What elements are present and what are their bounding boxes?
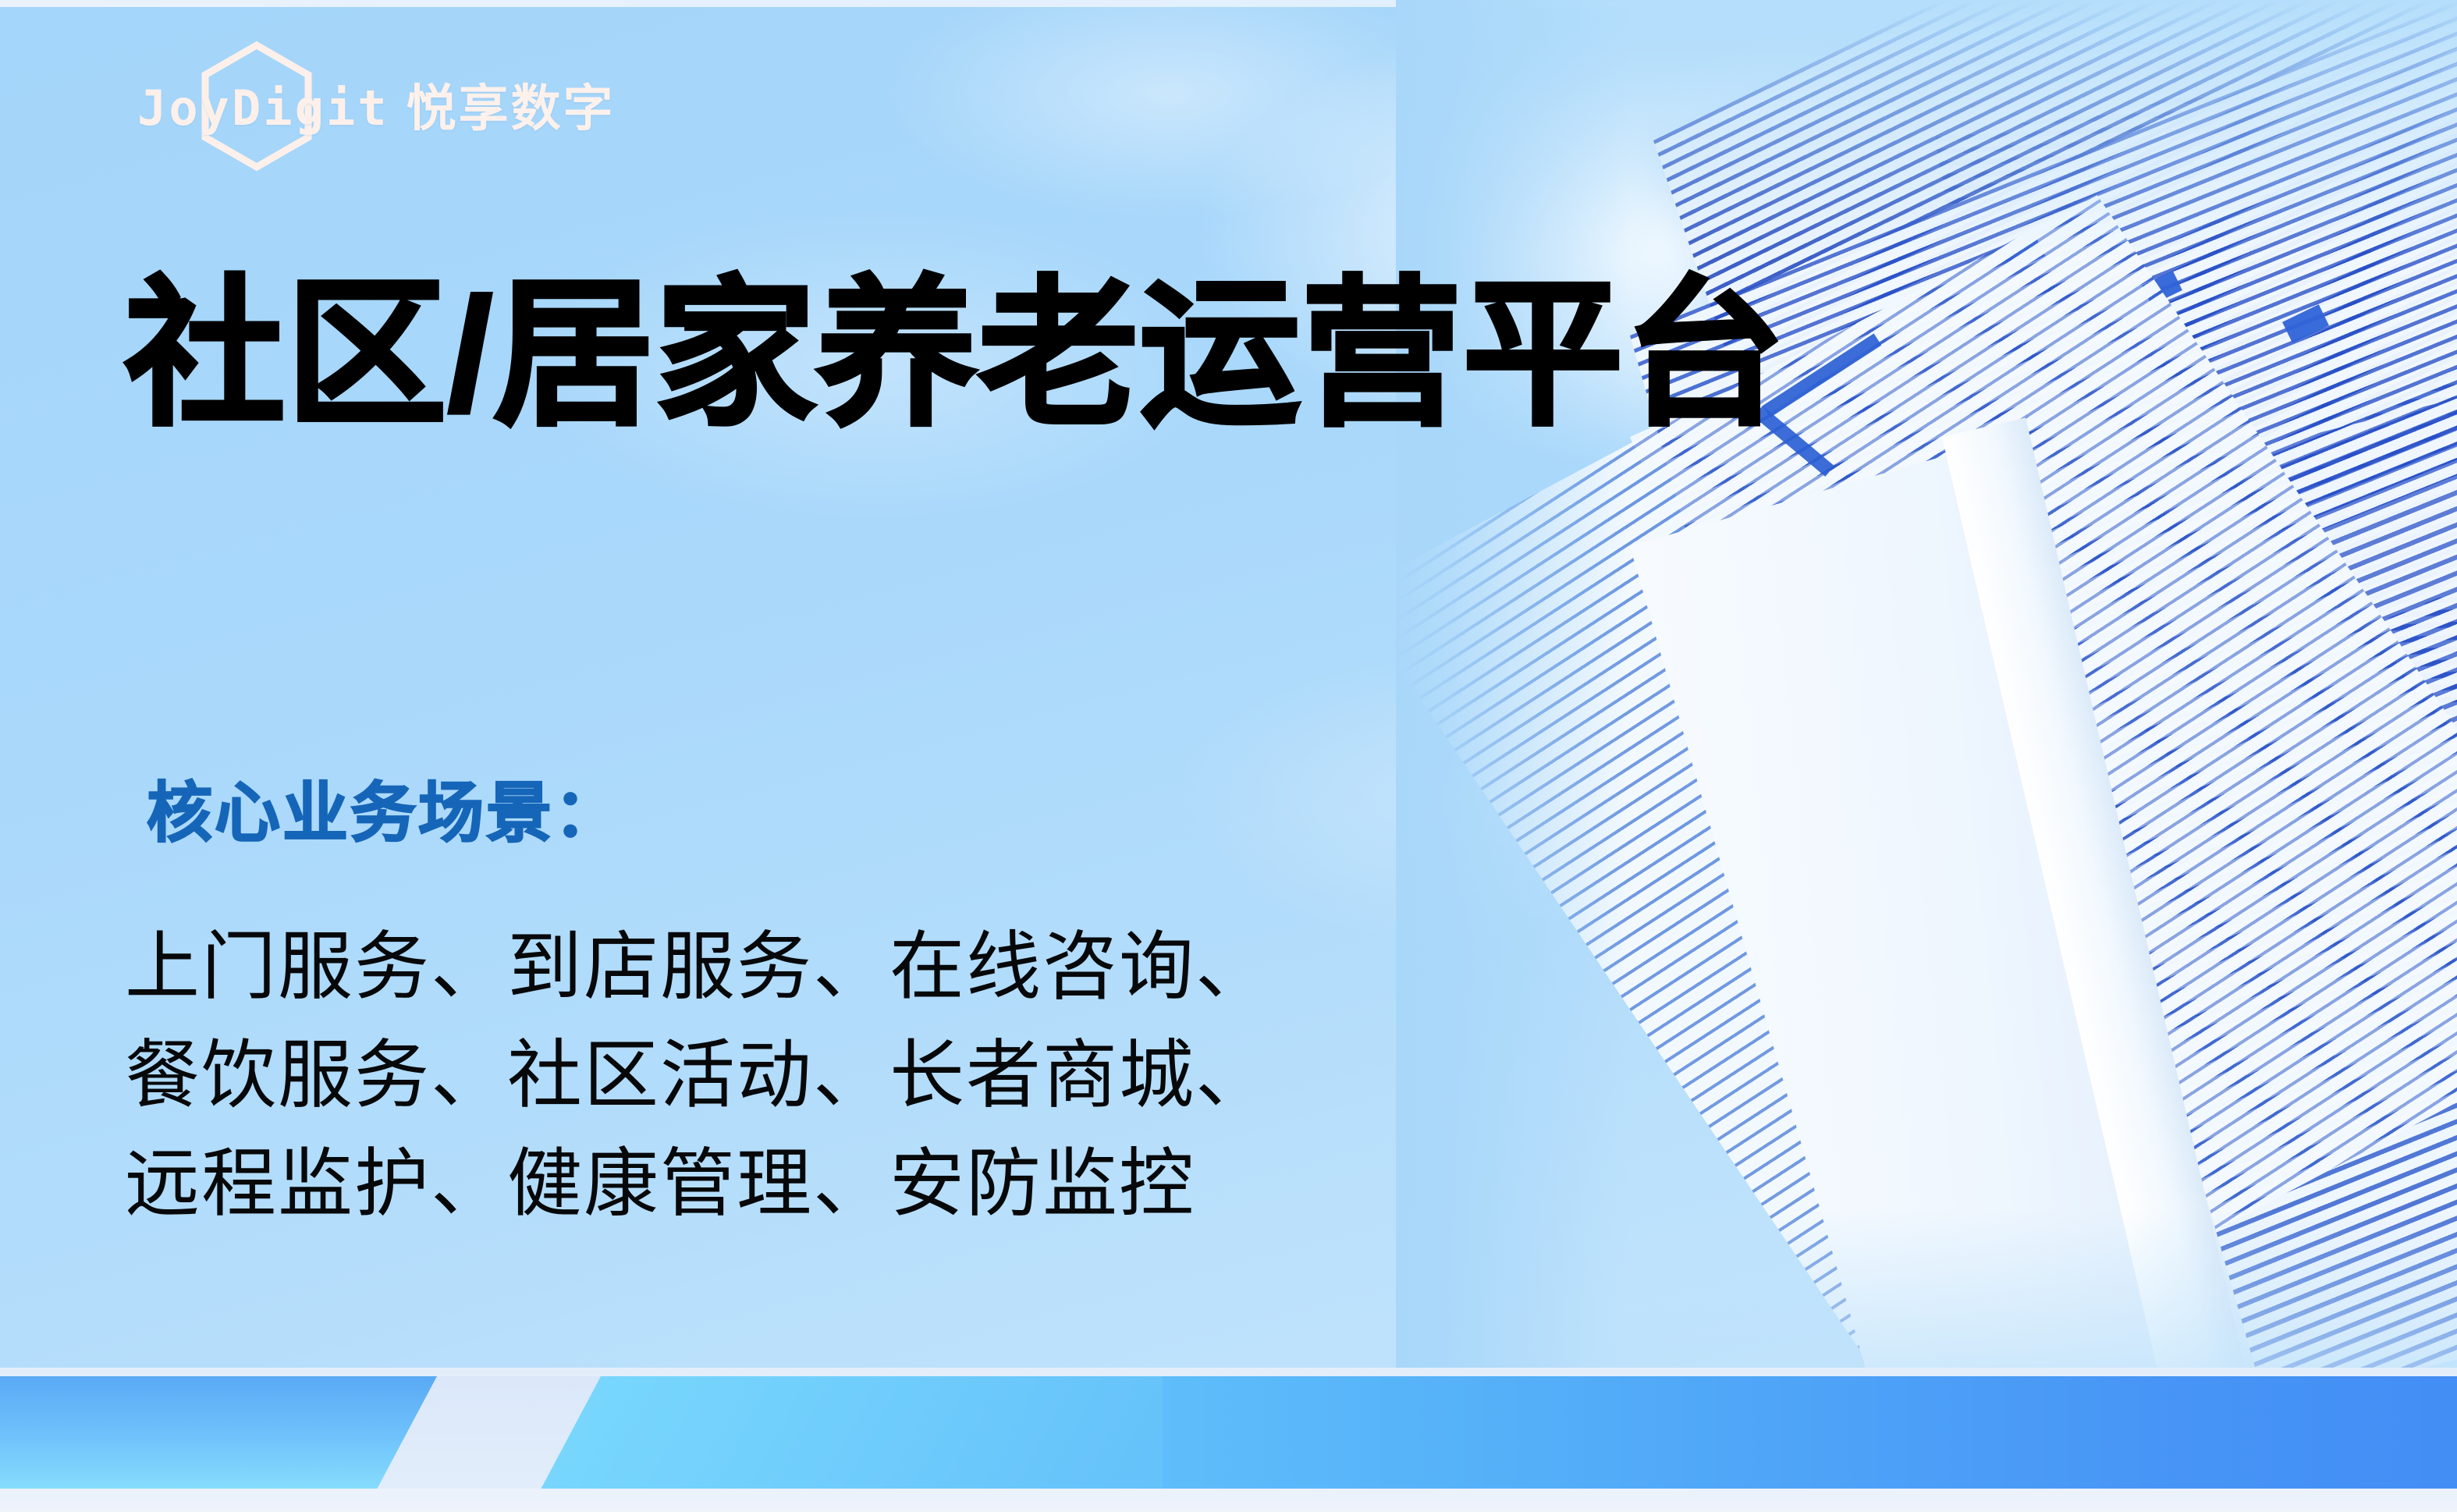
bottom-decorative-banner [0,1368,2457,1512]
scenario-line: 远程监护、健康管理、安防监控 [125,1136,1272,1233]
scenario-line: 上门服务、到店服务、在线咨询、 [125,919,1272,1017]
logo-chinese-name: 悦享数字 [407,83,616,133]
page-title: 社区/居家养老运营平台 [125,265,1786,445]
logo-wordmark: JoyDigit [137,84,389,133]
scenario-line: 餐饮服务、社区活动、长者商城、 [125,1028,1272,1125]
section-heading: 核心业务场景： [147,780,622,846]
banner-band-right-solid [1163,1376,2457,1489]
sky-background [0,0,2457,1512]
brand-logo[interactable]: JoyDigit 悦享数字 [137,75,616,142]
slide-root: JoyDigit 悦享数字 社区/居家养老运营平台 核心业务场景： 上门服务、到… [0,0,2457,1512]
top-edge-strip [0,0,2457,7]
scenario-list: 上门服务、到店服务、在线咨询、 餐饮服务、社区活动、长者商城、 远程监护、健康管… [125,919,1272,1233]
